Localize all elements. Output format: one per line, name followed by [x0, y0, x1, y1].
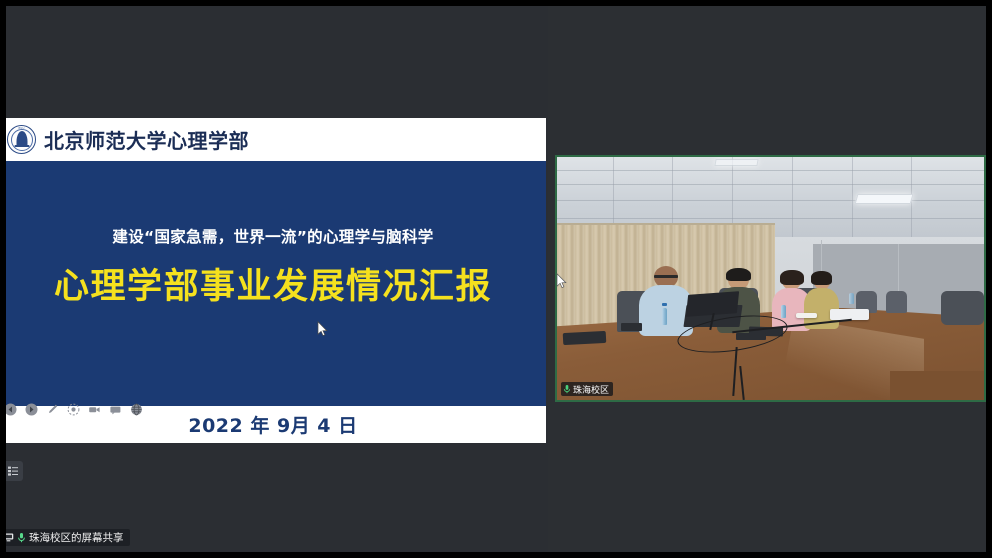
- participant-video-tile[interactable]: 珠海校区: [555, 155, 986, 402]
- slide-date: 2022 年 9月 4 日: [188, 411, 357, 438]
- slide-title: 心理学部事业发展情况汇报: [0, 258, 546, 309]
- shared-screen-empty-top: [0, 6, 548, 118]
- letterbox-left: [0, 0, 6, 558]
- ceiling-light-icon: [854, 194, 912, 204]
- slide-list-icon[interactable]: [3, 461, 23, 481]
- presentation-slide[interactable]: BNU 北京师范大学心理学部 建设“国家急需，世界一流”的心理学与脑科学 心理学…: [0, 118, 546, 443]
- microphone-on-icon: [563, 384, 571, 394]
- meeting-stage: BNU 北京师范大学心理学部 建设“国家急需，世界一流”的心理学与脑科学 心理学…: [0, 0, 992, 558]
- bnu-seal-logo-icon: BNU: [7, 125, 36, 154]
- laptop: [621, 323, 642, 330]
- presenter-toolbar[interactable]: [4, 403, 143, 416]
- share-status-label: 珠海校区的屏幕共享: [29, 530, 124, 545]
- letterbox-right: [986, 0, 992, 558]
- shared-screen-region: BNU 北京师范大学心理学部 建设“国家急需，世界一流”的心理学与脑科学 心理学…: [0, 6, 548, 552]
- microphone-icon: [17, 532, 26, 543]
- slide-subtitle: 建设“国家急需，世界一流”的心理学与脑科学: [0, 225, 546, 247]
- floor: [890, 371, 984, 400]
- chair: [886, 291, 907, 313]
- water-bottle: [662, 308, 667, 325]
- university-name: 北京师范大学心理学部: [44, 125, 249, 154]
- ceiling-light-icon: [714, 159, 758, 166]
- chair: [941, 291, 984, 325]
- video-camera-icon[interactable]: [88, 403, 101, 416]
- laptop: [563, 331, 606, 345]
- water-bottle: [849, 293, 854, 304]
- participant-name-label: 珠海校区: [573, 383, 609, 396]
- globe-icon[interactable]: [130, 403, 143, 416]
- slide-header: BNU 北京师范大学心理学部: [0, 118, 546, 163]
- participant-name-tag: 珠海校区: [561, 382, 613, 396]
- video-feed: 珠海校区: [557, 157, 984, 400]
- spotlight-pointer-icon[interactable]: [67, 403, 80, 416]
- bottle-cap: [662, 303, 667, 306]
- water-bottle: [781, 305, 786, 318]
- pen-annotate-icon[interactable]: [46, 403, 59, 416]
- letterbox-bottom: [0, 552, 992, 558]
- share-status-bar: 珠海校区的屏幕共享: [0, 529, 130, 546]
- slide-body: 建设“国家急需，世界一流”的心理学与脑科学 心理学部事业发展情况汇报: [0, 165, 546, 406]
- letterbox-top: [0, 0, 992, 6]
- next-slide-icon[interactable]: [25, 403, 38, 416]
- paper-document: [796, 313, 817, 318]
- comment-icon[interactable]: [109, 403, 122, 416]
